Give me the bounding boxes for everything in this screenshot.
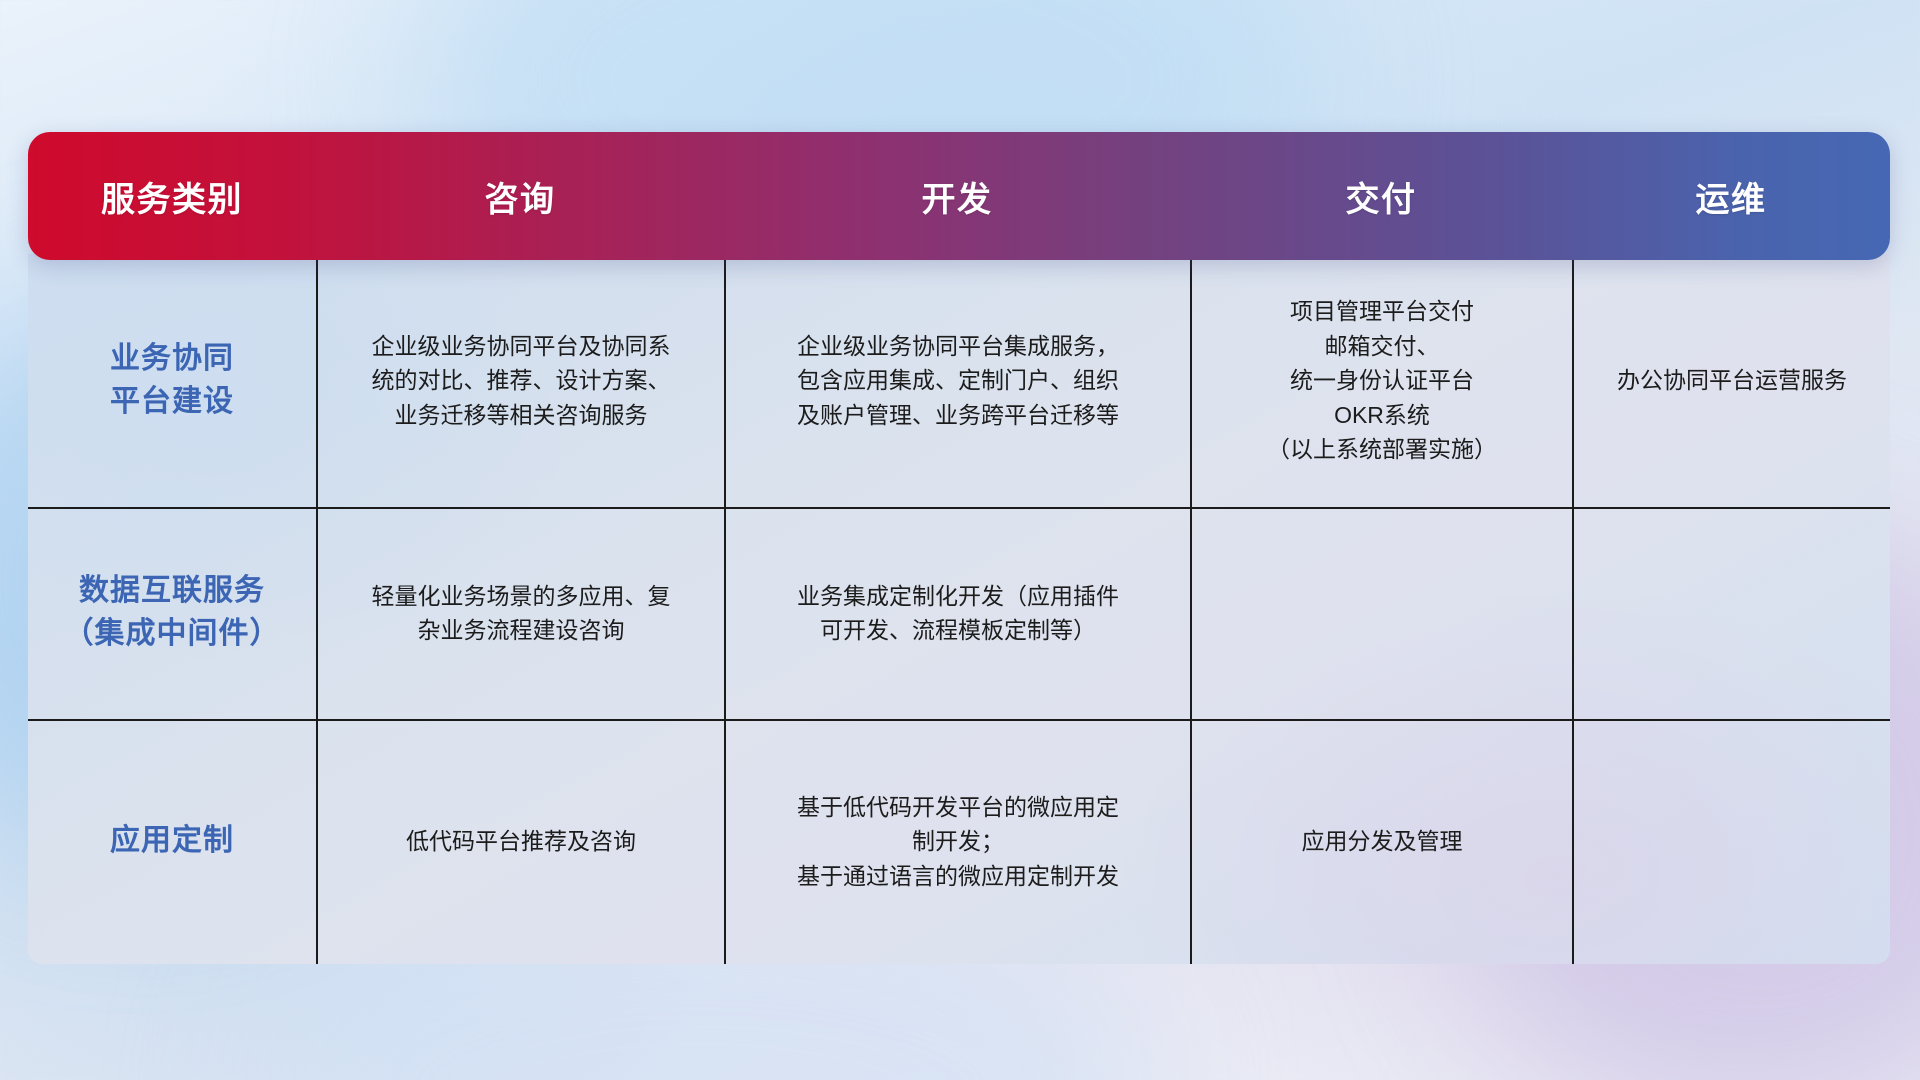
column-header-delivery: 交付 — [1190, 132, 1572, 260]
table-row: 业务协同 平台建设 企业级业务协同平台及协同系 统的对比、推荐、设计方案、 业务… — [28, 254, 1890, 507]
column-header-consulting: 咨询 — [316, 132, 724, 260]
table-body: 业务协同 平台建设 企业级业务协同平台及协同系 统的对比、推荐、设计方案、 业务… — [28, 254, 1890, 964]
column-header-label: 开发 — [922, 172, 993, 221]
column-header-development: 开发 — [724, 132, 1190, 260]
service-matrix-table: 服务类别 咨询 开发 交付 运维 业务协同 平台建设 企业级业务协同平台及协同系… — [28, 132, 1890, 952]
table-header-row: 服务类别 咨询 开发 交付 运维 — [28, 132, 1890, 260]
cell-operations — [1572, 507, 1890, 719]
cell-delivery: 项目管理平台交付 邮箱交付、 统一身份认证平台 OKR系统 （以上系统部署实施） — [1190, 254, 1572, 507]
table-row: 数据互联服务 （集成中间件） 轻量化业务场景的多应用、复 杂业务流程建设咨询 业… — [28, 507, 1890, 719]
table-row: 应用定制 低代码平台推荐及咨询 基于低代码开发平台的微应用定 制开发； 基于通过… — [28, 719, 1890, 964]
cell-operations: 办公协同平台运营服务 — [1572, 254, 1890, 507]
column-header-label: 交付 — [1346, 172, 1417, 221]
column-header-label: 运维 — [1696, 172, 1767, 221]
cell-consulting: 企业级业务协同平台及协同系 统的对比、推荐、设计方案、 业务迁移等相关咨询服务 — [316, 254, 724, 507]
cell-development: 业务集成定制化开发（应用插件 可开发、流程模板定制等） — [724, 507, 1190, 719]
cell-development: 基于低代码开发平台的微应用定 制开发； 基于通过语言的微应用定制开发 — [724, 719, 1190, 964]
row-category-label: 数据互联服务 （集成中间件） — [28, 507, 316, 719]
slide-canvas: 服务类别 咨询 开发 交付 运维 业务协同 平台建设 企业级业务协同平台及协同系… — [0, 0, 1920, 1080]
cell-delivery — [1190, 507, 1572, 719]
column-header-service-category: 服务类别 — [28, 132, 316, 260]
row-category-label: 业务协同 平台建设 — [28, 254, 316, 507]
column-header-label: 服务类别 — [101, 172, 243, 221]
cell-development: 企业级业务协同平台集成服务， 包含应用集成、定制门户、组织 及账户管理、业务跨平… — [724, 254, 1190, 507]
column-header-label: 咨询 — [485, 172, 556, 221]
cell-operations — [1572, 719, 1890, 964]
cell-consulting: 低代码平台推荐及咨询 — [316, 719, 724, 964]
row-category-label: 应用定制 — [28, 719, 316, 964]
cell-consulting: 轻量化业务场景的多应用、复 杂业务流程建设咨询 — [316, 507, 724, 719]
column-header-operations: 运维 — [1572, 132, 1890, 260]
cell-delivery: 应用分发及管理 — [1190, 719, 1572, 964]
